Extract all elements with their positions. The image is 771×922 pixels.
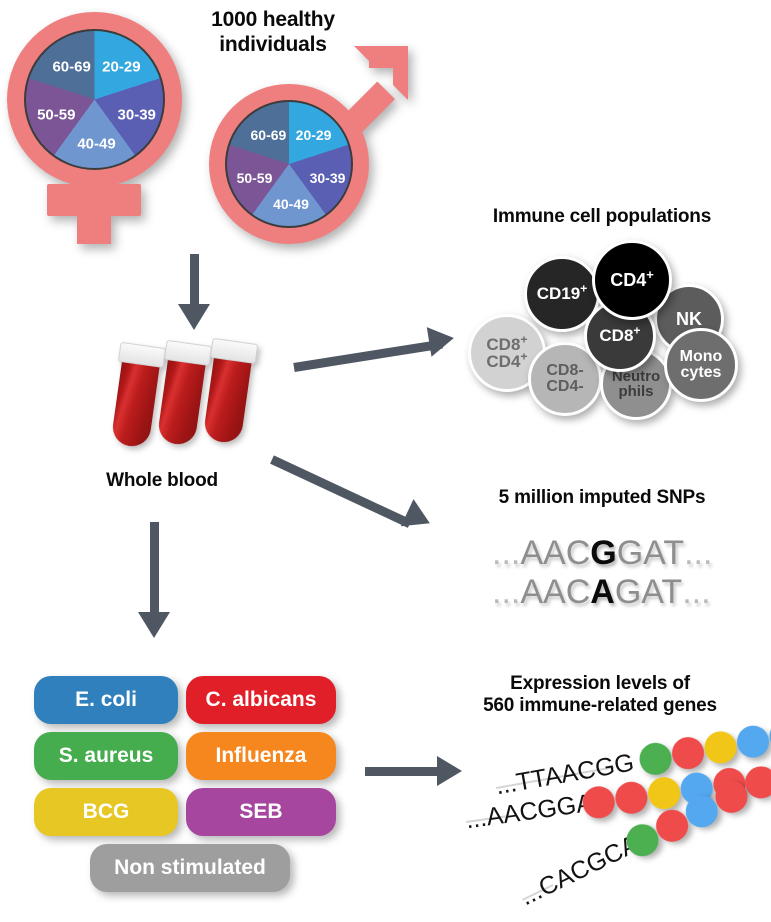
gene-bead <box>702 729 739 766</box>
section-title-expression: Expression levels of 560 immune-related … <box>440 673 760 718</box>
female-age-pie: 20-2930-3940-4950-5960-69 <box>24 29 165 170</box>
arrow-shaft <box>365 767 443 776</box>
expression-title-line2: 560 immune-related genes <box>440 695 760 717</box>
female-symbol: 20-2930-3940-4950-5960-69 <box>6 12 188 244</box>
cell-label: CD19+ <box>537 285 588 302</box>
blood-tube <box>156 340 208 448</box>
cell-label: CD8+ <box>599 327 640 344</box>
stimulation-label: BCG <box>83 800 130 824</box>
cell-monocytes: Mono cytes <box>664 328 738 402</box>
gene-bead <box>670 735 707 772</box>
snp-variant-allele: G <box>590 534 616 573</box>
stimulation-influenza[interactable]: Influenza <box>186 732 336 780</box>
stimulation-label: Influenza <box>215 744 306 768</box>
gene-bead <box>613 780 649 816</box>
arrow-head <box>437 756 462 786</box>
pie-slice-label: 30-39 <box>310 170 346 186</box>
stimulation-label: Non stimulated <box>114 856 266 880</box>
cell-label: NK <box>676 310 702 328</box>
stimulation-bcg[interactable]: BCG <box>34 788 178 836</box>
arrow-shaft <box>270 455 412 527</box>
arrow-shaft <box>293 340 443 372</box>
section-title-snps: 5 million imputed SNPs <box>452 487 752 509</box>
stimulation-label: C. albicans <box>206 688 317 712</box>
stimulation-label: E. coli <box>75 688 137 712</box>
pie-slice-label: 20-29 <box>296 127 332 143</box>
arrow-head <box>138 612 170 638</box>
snp-sequence-row: ...AACGGAT... <box>492 534 712 573</box>
arrow-head <box>401 499 436 537</box>
arrow-shaft <box>150 522 159 618</box>
cohort-title-line1: 1000 healthy <box>176 8 370 33</box>
stimulation-label: S. aureus <box>59 744 154 768</box>
blood-tube <box>202 338 254 446</box>
cell-label: Mono cytes <box>680 349 723 382</box>
arrow-shaft <box>190 254 199 310</box>
stimulation-label: SEB <box>239 800 282 824</box>
stimulation-seb[interactable]: SEB <box>186 788 336 836</box>
gene-bead <box>637 740 674 777</box>
blood-tube-fill <box>156 354 206 446</box>
pie-slice-label: 40-49 <box>273 196 309 212</box>
figure-canvas: 1000 healthy individuals 20-2930-3940-49… <box>0 0 771 922</box>
cell-cd4-positive: CD4+ <box>592 240 672 320</box>
gene-strand-group: ...TTAACGG ...AACGGAT ...CACGCAA <box>470 736 770 916</box>
gene-bead <box>734 723 771 760</box>
pie-slice-label: 50-59 <box>237 170 273 186</box>
snp-sequence-row: ...AACAGAT... <box>492 573 711 612</box>
snp-variant-allele: A <box>590 573 615 612</box>
immune-cell-cluster: CD8+ CD4+ CD19+ CD4+ NK CD8+ <box>452 238 752 418</box>
expression-title-line1: Expression levels of <box>440 673 760 695</box>
female-crossbar <box>47 184 141 216</box>
male-arrowhead-glyph <box>348 44 410 106</box>
blood-tube-fill <box>110 356 160 448</box>
section-title-immune: Immune cell populations <box>452 206 752 228</box>
whole-blood-tubes <box>108 340 278 460</box>
pie-slice-label: 20-29 <box>102 59 140 76</box>
stimulation-s-aureus[interactable]: S. aureus <box>34 732 178 780</box>
male-age-pie: 20-2930-3940-4950-5960-69 <box>225 100 353 228</box>
pie-slice-label: 60-69 <box>251 127 287 143</box>
blood-tube-fill <box>202 352 252 444</box>
pie-slice-label: 50-59 <box>37 106 75 123</box>
cell-label: CD4+ <box>610 271 654 289</box>
cell-label: CD8- CD4- <box>546 363 583 396</box>
stimulation-e-coli[interactable]: E. coli <box>34 676 178 724</box>
male-symbol: 20-2930-3940-4950-5960-69 <box>205 42 410 247</box>
stimulation-non-stimulated[interactable]: Non stimulated <box>90 844 290 892</box>
cell-label: CD8+ CD4+ <box>486 336 527 371</box>
cell-label: Neutro phils <box>612 369 660 400</box>
stimulation-panel: E. coli C. albicans S. aureus Influenza … <box>34 676 344 896</box>
pie-slice-label: 30-39 <box>118 106 156 123</box>
pie-slice-label: 60-69 <box>52 59 90 76</box>
stimulation-c-albicans[interactable]: C. albicans <box>186 676 336 724</box>
pie-slice-label: 40-49 <box>77 135 115 152</box>
label-whole-blood: Whole blood <box>72 470 252 492</box>
blood-tube <box>110 342 162 450</box>
arrow-head <box>178 304 210 330</box>
